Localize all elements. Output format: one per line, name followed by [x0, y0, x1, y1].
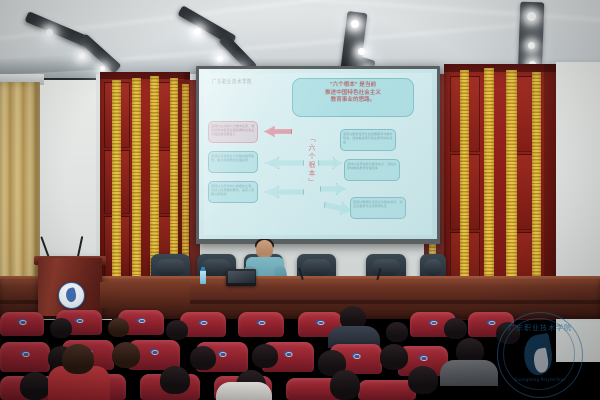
audience-head [62, 344, 94, 374]
audience-head [408, 366, 438, 394]
seat-logo-icon [199, 320, 208, 325]
watermark-logo: 广东职业技术学院 Guangdong Polytechnic [497, 312, 583, 398]
seat-logo-icon [75, 318, 84, 323]
seat-logo-icon [21, 351, 30, 356]
audience-head [444, 318, 467, 339]
seat-logo-icon [150, 349, 159, 354]
seat-logo-icon [419, 355, 428, 360]
audience-head [330, 370, 360, 400]
audience-shoulders [440, 360, 498, 386]
watermark-english-text: Guangdong Polytechnic [498, 377, 582, 382]
seat-logo-icon [429, 320, 438, 325]
seat-logo-icon [284, 351, 293, 356]
projection-screen: 广东职业技术学院 "六个根本" 是当前 推进中国特色社会主义 教育事业的思路。 … [199, 69, 437, 239]
audience-head [380, 344, 408, 370]
slide-box-top-left: 坚持以立德树人为根本任务，培养德智体美劳全面发展的社会主义建设者和接班人 [208, 121, 258, 143]
audience-head [20, 372, 50, 400]
light-bulb [351, 20, 359, 28]
slide-box-bottom-left: 坚持以人民为中心的根本立场，办好人民满意的教育，提高人民群众获得感 [208, 181, 258, 203]
slide-header-logo: 广东职业技术学院 [212, 78, 252, 86]
seat-logo-icon [218, 351, 227, 356]
side-table [100, 282, 190, 308]
slide-arrow-pink-left [264, 126, 290, 135]
light-bulb [217, 56, 223, 62]
audience-shoulders-white [216, 382, 272, 400]
wall-slat [170, 78, 178, 278]
slide-arrow-left-mid [264, 157, 302, 167]
lecture-hall-photo: 广东职业技术学院 "六个根本" 是当前 推进中国特色社会主义 教育事业的思路。 … [0, 0, 600, 400]
audience-seat [238, 312, 284, 337]
water-bottle [200, 270, 206, 284]
audience-head [386, 322, 408, 342]
slide-arrow-left-bottom [264, 186, 302, 196]
light-bulb [79, 53, 85, 59]
slide-box-top-right: 坚持以服务经济社会发展需求为根本导向，加快推进现代职业教育体系建设 [340, 129, 396, 151]
slide-title-line-1: "六个根本" 是当前 [297, 82, 409, 90]
light-bulb [527, 12, 536, 21]
audience-head [50, 318, 72, 338]
podium-emblem-icon [58, 282, 85, 309]
slide-arrow-right-bottom [323, 198, 351, 214]
light-bulb [194, 28, 201, 35]
wall-slat [132, 78, 141, 290]
watermark-chinese-text: 广东职业技术学院 [498, 323, 582, 333]
slide-arrow-right-top [318, 157, 340, 167]
laptop [226, 269, 256, 286]
seat-logo-icon [316, 320, 325, 325]
seat-logo-icon [257, 320, 266, 325]
seat-logo-icon [18, 319, 27, 324]
audience-head [190, 346, 216, 370]
slide-title-line-3: 教育事业的思路。 [297, 97, 409, 105]
light-bulb [100, 66, 105, 71]
presentation-slide: 广东职业技术学院 "六个根本" 是当前 推进中国特色社会主义 教育事业的思路。 … [204, 73, 432, 235]
seat-logo-icon [137, 318, 146, 323]
audience-head [160, 366, 190, 394]
slide-title-box: "六个根本" 是当前 推进中国特色社会主义 教育事业的思路。 [292, 78, 414, 117]
audience-head [252, 344, 278, 368]
light-bulb [358, 48, 365, 55]
slide-center-label: 「六个根本」 [308, 129, 317, 193]
light-bulb [46, 29, 53, 36]
seat-logo-icon [487, 320, 496, 325]
wall-slat [112, 80, 121, 285]
slide-box-mid-left: 坚持以马克思主义为根本指导思想，着力加强党的全面领导 [208, 151, 258, 173]
audience-head [108, 318, 129, 337]
seat-logo-icon [352, 353, 361, 358]
slide-box-bottom-right: 坚持以教师队伍建设为根本依托，建设高素质专业化教师队伍 [350, 197, 406, 219]
slide-box-mid-right: 坚持以改革创新为根本动力，深化办学体制和教育管理改革 [344, 159, 400, 181]
audience-seat [0, 342, 50, 372]
audience-head [166, 320, 188, 340]
slide-arrow-right-mid [320, 183, 344, 193]
audience-seat [0, 312, 44, 336]
wall-slat [150, 76, 159, 284]
light-bulb [528, 42, 535, 49]
audience-head [112, 342, 140, 368]
